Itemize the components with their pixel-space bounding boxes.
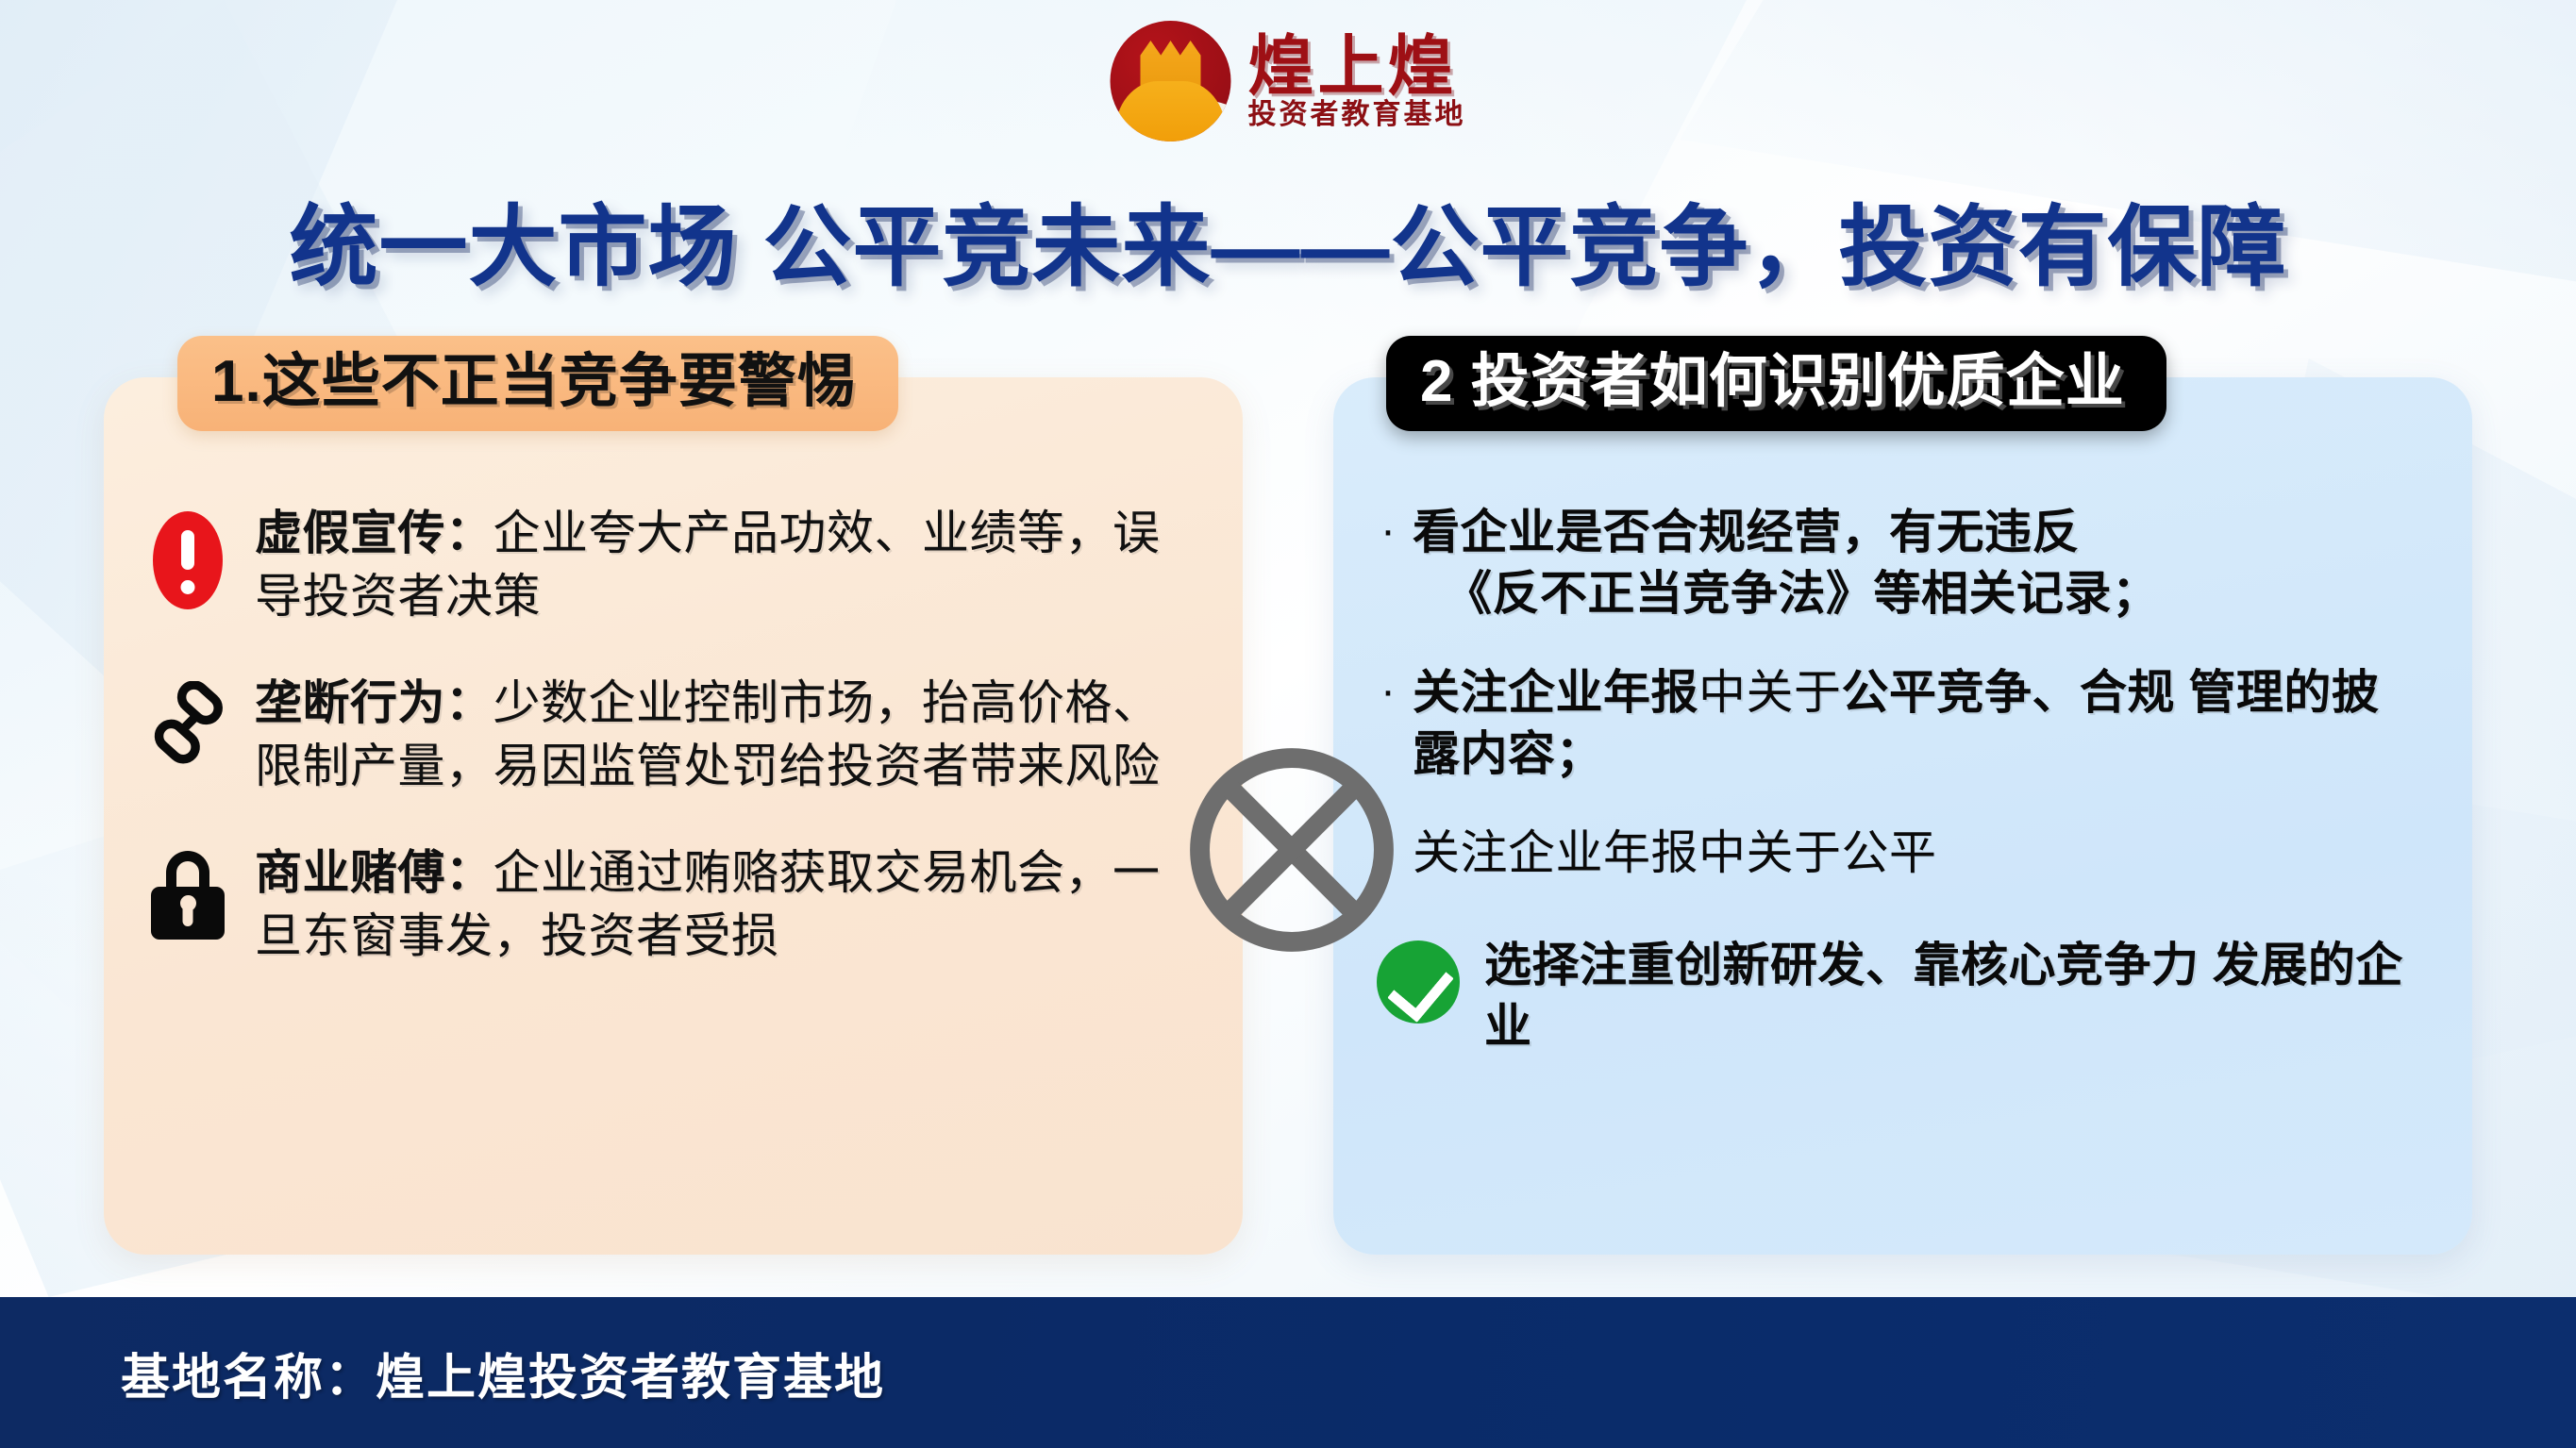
item-label: 垄断行为： [255, 676, 493, 729]
bullet-marker: · [1377, 502, 1396, 559]
bullet-line-1a: 关注企业年报 [1413, 666, 1698, 719]
list-item: · 关注企业年报中关于公平竞争、合规 管理的披露内容； [1377, 662, 2423, 785]
brand-name: 煌上煌 [1248, 33, 1466, 99]
exclamation-circle-icon [153, 511, 223, 609]
bullet-text: 看企业是否合规经营，有无违反 《反不正当竞争法》等相关记录； [1413, 502, 2423, 624]
unfair-competition-list: 虚假宣传：企业夸大产品功效、业绩等，误导投资者决策 [147, 502, 1194, 968]
forbidden-cross-circle-icon [1182, 741, 1401, 959]
highlight-item: 选择注重创新研发、靠核心竞争力 发展的企业 [1377, 935, 2423, 1057]
list-item: · 看企业是否合规经营，有无违反 《反不正当竞争法》等相关记录； [1377, 502, 2423, 624]
sun-shape [1115, 81, 1227, 141]
brand-tagline: 投资者教育基地 [1248, 101, 1466, 129]
footer-bar: 基地名称：煌上煌投资者教育基地 [0, 1297, 2576, 1448]
footer-base-name: 基地名称：煌上煌投资者教育基地 [121, 1338, 885, 1408]
item-text: 垄断行为：少数企业控制市场，抬高价格、限制产量，易因监管处罚给投资者带来风险 [255, 672, 1194, 798]
bullet-line-1-mid: 中关于 [1698, 666, 1842, 719]
item-icon-slot [147, 502, 228, 609]
card-banner-right: 2 投资者如何识别优质企业 [1386, 336, 2166, 431]
bullet-line-1: 看企业是否合规经营，有无违反 [1413, 506, 2080, 558]
item-icon-slot [147, 672, 228, 768]
card-unfair-competition: 1.这些不正当竞争要警惕 虚假宣传：企业夸大产品功效、业绩等，误导投资者决策 [104, 377, 1243, 1255]
chain-link-icon [147, 681, 228, 768]
list-item: 虚假宣传：企业夸大产品功效、业绩等，误导投资者决策 [147, 502, 1194, 628]
brand-logo-text: 煌上煌 投资者教育基地 [1248, 33, 1466, 129]
bullet-text: 关注企业年报中关于公平 [1413, 823, 2423, 884]
bullet-line-1b: 公平竞争、合规 [1841, 666, 2175, 719]
padlock-icon [151, 851, 225, 940]
crown-sun-emblem-icon [1111, 21, 1231, 141]
bullet-marker: · [1377, 662, 1396, 720]
slide-root: 煌上煌 投资者教育基地 统一大市场 公平竞未来——公平竞争，投资有保障 1.这些… [0, 0, 2576, 1448]
list-item: 垄断行为：少数企业控制市场，抬高价格、限制产量，易因监管处罚给投资者带来风险 [147, 672, 1194, 798]
padlock-body [151, 887, 225, 940]
bullet-text: 关注企业年报中关于公平竞争、合规 管理的披露内容； [1413, 662, 2423, 785]
item-label: 虚假宣传： [255, 507, 493, 559]
highlight-line-1: 选择注重创新研发、靠核心竞争力 [1484, 939, 2200, 991]
page-title: 统一大市场 公平竞未来——公平竞争，投资有保障 [0, 175, 2576, 304]
card-banner-left: 1.这些不正当竞争要警惕 [177, 336, 898, 431]
highlight-text: 选择注重创新研发、靠核心竞争力 发展的企业 [1484, 935, 2423, 1057]
list-item: · 关注企业年报中关于公平 [1377, 823, 2423, 884]
item-text: 虚假宣传：企业夸大产品功效、业绩等，误导投资者决策 [255, 502, 1194, 628]
item-text: 商业赌傅：企业通过贿赂获取交易机会，一旦东窗事发，投资者受损 [255, 841, 1194, 968]
item-label: 商业赌傅： [255, 846, 493, 899]
bullet-line-2: 《反不正当竞争法》等相关记录； [1413, 563, 2423, 624]
item-icon-slot [147, 841, 228, 940]
identify-bullet-list: · 看企业是否合规经营，有无违反 《反不正当竞争法》等相关记录； · 关注企业年… [1377, 502, 2423, 1057]
list-item: 商业赌傅：企业通过贿赂获取交易机会，一旦东窗事发，投资者受损 [147, 841, 1194, 968]
padlock-keyhole [183, 902, 193, 926]
card-identify-quality-firms: 2 投资者如何识别优质企业 · 看企业是否合规经营，有无违反 《反不正当竞争法》… [1333, 377, 2472, 1255]
brand-logo: 煌上煌 投资者教育基地 [1111, 21, 1466, 141]
